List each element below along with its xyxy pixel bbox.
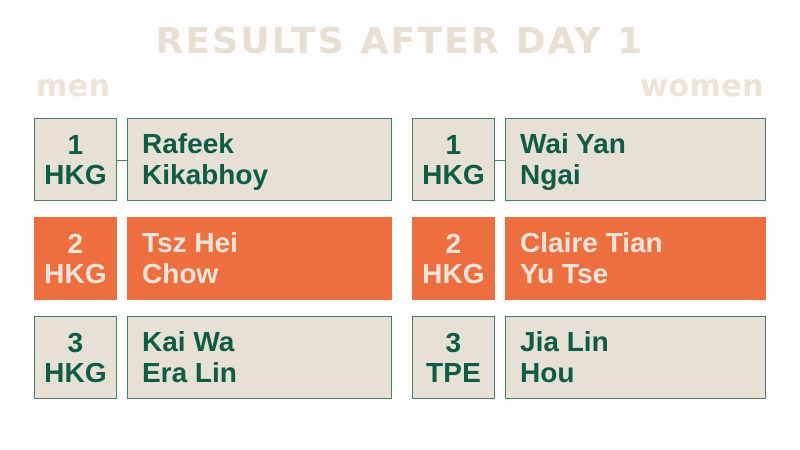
results-column-women: 1HKGWai YanNgai2HKGClaire TianYu Tse3TPE… bbox=[412, 118, 766, 399]
result-row: 3TPEJia LinHou bbox=[412, 316, 766, 399]
rank-box: 1HKG bbox=[412, 118, 495, 201]
athlete-name-line-1: Claire Tian bbox=[520, 228, 765, 258]
nation-code: TPE bbox=[426, 358, 481, 387]
rank-number: 2 bbox=[67, 229, 83, 258]
category-label-men: men bbox=[36, 70, 110, 104]
connector-line bbox=[117, 160, 127, 162]
category-label-women: women bbox=[640, 70, 764, 104]
athlete-name-line-2: Hou bbox=[520, 358, 765, 388]
result-row: 2HKGTsz HeiChow bbox=[34, 217, 392, 300]
results-graphic: RESULTS AFTER DAY 1 men women 1HKGRafeek… bbox=[0, 0, 800, 450]
athlete-name-line-2: Era Lin bbox=[142, 358, 391, 388]
rank-box: 1HKG bbox=[34, 118, 117, 201]
rank-number: 1 bbox=[67, 130, 83, 159]
result-row: 2HKGClaire TianYu Tse bbox=[412, 217, 766, 300]
rank-number: 1 bbox=[445, 130, 461, 159]
athlete-name-line-1: Kai Wa bbox=[142, 327, 391, 357]
nation-code: HKG bbox=[44, 358, 107, 387]
athlete-name-line-1: Jia Lin bbox=[520, 327, 765, 357]
page-title: RESULTS AFTER DAY 1 bbox=[0, 22, 800, 62]
rank-number: 3 bbox=[67, 328, 83, 357]
athlete-name-line-2: Kikabhoy bbox=[142, 160, 391, 190]
athlete-name-box: Kai WaEra Lin bbox=[127, 316, 392, 399]
athlete-name-line-2: Ngai bbox=[520, 160, 765, 190]
nation-code: HKG bbox=[422, 160, 485, 189]
athlete-name-line-1: Rafeek bbox=[142, 129, 391, 159]
result-row: 1HKGWai YanNgai bbox=[412, 118, 766, 201]
results-column-men: 1HKGRafeekKikabhoy2HKGTsz HeiChow3HKGKai… bbox=[34, 118, 392, 399]
rank-number: 3 bbox=[445, 328, 461, 357]
athlete-name-box: Wai YanNgai bbox=[505, 118, 766, 201]
nation-code: HKG bbox=[44, 160, 107, 189]
rank-box: 3TPE bbox=[412, 316, 495, 399]
athlete-name-box: Claire TianYu Tse bbox=[505, 217, 766, 300]
nation-code: HKG bbox=[422, 259, 485, 288]
athlete-name-line-1: Wai Yan bbox=[520, 129, 765, 159]
result-row: 3HKGKai WaEra Lin bbox=[34, 316, 392, 399]
athlete-name-line-2: Chow bbox=[142, 259, 391, 289]
athlete-name-box: Jia LinHou bbox=[505, 316, 766, 399]
athlete-name-box: RafeekKikabhoy bbox=[127, 118, 392, 201]
rank-box: 2HKG bbox=[412, 217, 495, 300]
connector-line bbox=[495, 160, 505, 162]
result-row: 1HKGRafeekKikabhoy bbox=[34, 118, 392, 201]
rank-box: 2HKG bbox=[34, 217, 117, 300]
athlete-name-box: Tsz HeiChow bbox=[127, 217, 392, 300]
athlete-name-line-2: Yu Tse bbox=[520, 259, 765, 289]
nation-code: HKG bbox=[44, 259, 107, 288]
rank-box: 3HKG bbox=[34, 316, 117, 399]
athlete-name-line-1: Tsz Hei bbox=[142, 228, 391, 258]
rank-number: 2 bbox=[445, 229, 461, 258]
